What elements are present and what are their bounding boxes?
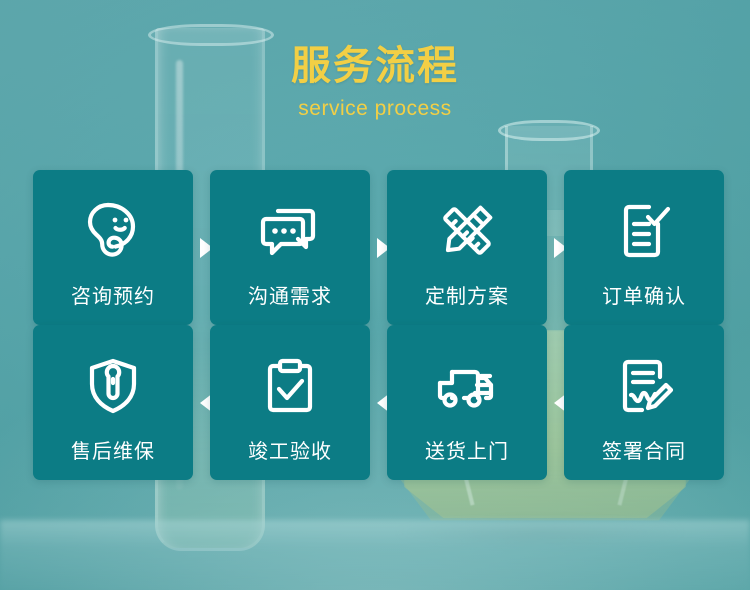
shield-wrench-icon [77, 350, 149, 422]
clipboard-check-icon [254, 350, 326, 422]
step-card-sign-contract[interactable]: 签署合同 [564, 325, 724, 480]
step-card-custom-plan[interactable]: 定制方案 [387, 170, 547, 325]
process-grid: 咨询预约 沟通需求 [33, 170, 724, 480]
step-card-label: 送货上门 [425, 435, 509, 464]
pencil-ruler-icon [431, 195, 503, 267]
step-card-label: 竣工验收 [248, 435, 332, 464]
step-card-label: 定制方案 [425, 280, 509, 309]
step-card-delivery[interactable]: 送货上门 [387, 325, 547, 480]
phone-smiley-icon [77, 195, 149, 267]
page-subtitle: service process [0, 94, 750, 124]
step-card-label: 沟通需求 [248, 280, 332, 309]
document-check-icon [608, 195, 680, 267]
step-card-label: 签署合同 [602, 435, 686, 464]
step-card-communication[interactable]: 沟通需求 [210, 170, 370, 325]
step-card-acceptance[interactable]: 竣工验收 [210, 325, 370, 480]
page-title: 服务流程 [0, 40, 750, 92]
table-surface [0, 520, 750, 590]
process-row-top: 咨询预约 沟通需求 [33, 170, 724, 325]
step-card-consultation[interactable]: 咨询预约 [33, 170, 193, 325]
step-card-after-sales[interactable]: 售后维保 [33, 325, 193, 480]
step-card-label: 售后维保 [71, 435, 155, 464]
step-card-label: 订单确认 [602, 280, 686, 309]
page-header: 服务流程 service process [0, 40, 750, 124]
step-card-label: 咨询预约 [71, 280, 155, 309]
process-row-bottom: 售后维保 竣工验收 [33, 325, 724, 480]
service-process-infographic: 服务流程 service process 咨询预约 [0, 0, 750, 590]
step-card-order-confirm[interactable]: 订单确认 [564, 170, 724, 325]
delivery-truck-icon [431, 350, 503, 422]
flask-shadow [330, 512, 750, 552]
chat-bubbles-icon [254, 195, 326, 267]
contract-signature-icon [608, 350, 680, 422]
